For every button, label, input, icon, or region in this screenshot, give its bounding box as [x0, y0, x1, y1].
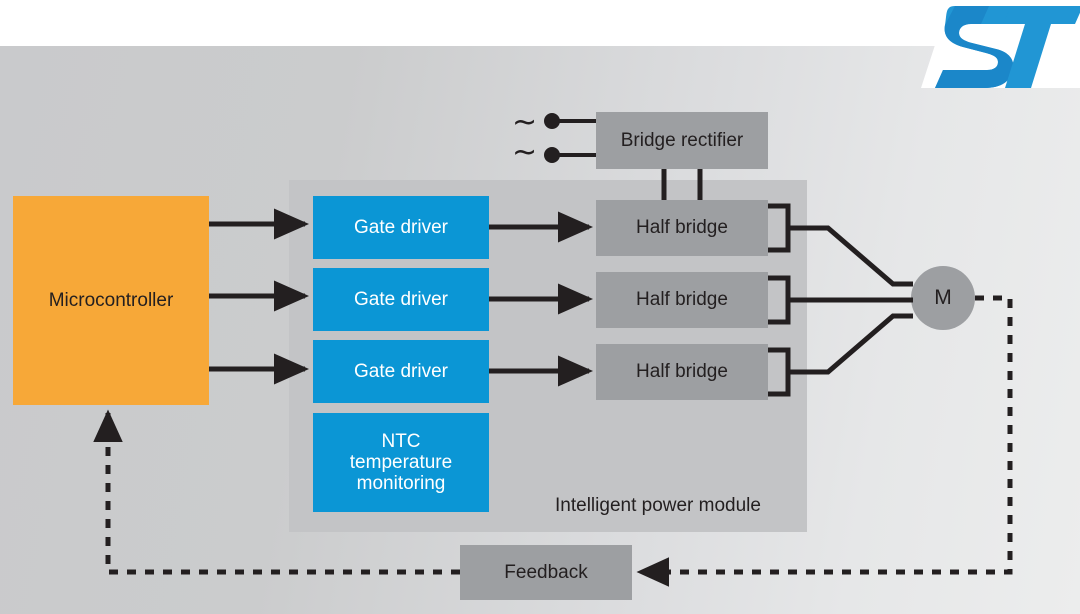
- ac-input-symbol-1: ~: [512, 108, 537, 138]
- st-logo: [893, 0, 1080, 92]
- half-bridge-block-1[interactable]: Half bridge: [596, 200, 768, 256]
- intelligent-power-module-label: Intelligent power module: [520, 495, 796, 517]
- microcontroller-block[interactable]: Microcontroller: [13, 196, 209, 405]
- diagram-canvas: Intelligent power module Microcontroller…: [0, 0, 1080, 614]
- gate-driver-block-2[interactable]: Gate driver: [313, 268, 489, 331]
- half-bridge-block-2[interactable]: Half bridge: [596, 272, 768, 328]
- half-bridge-block-3[interactable]: Half bridge: [596, 344, 768, 400]
- feedback-block[interactable]: Feedback: [460, 545, 632, 600]
- ntc-line-1: NTC: [381, 431, 420, 452]
- ntc-line-3: monitoring: [357, 473, 446, 494]
- ntc-line-2: temperature: [350, 452, 452, 473]
- ac-input-symbol-2: ~: [512, 138, 537, 168]
- bridge-rectifier-block[interactable]: Bridge rectifier: [596, 112, 768, 169]
- motor-symbol[interactable]: M: [911, 266, 975, 330]
- gate-driver-block-1[interactable]: Gate driver: [313, 196, 489, 259]
- gate-driver-block-3[interactable]: Gate driver: [313, 340, 489, 403]
- ntc-temperature-monitoring-block[interactable]: NTC temperature monitoring: [313, 413, 489, 512]
